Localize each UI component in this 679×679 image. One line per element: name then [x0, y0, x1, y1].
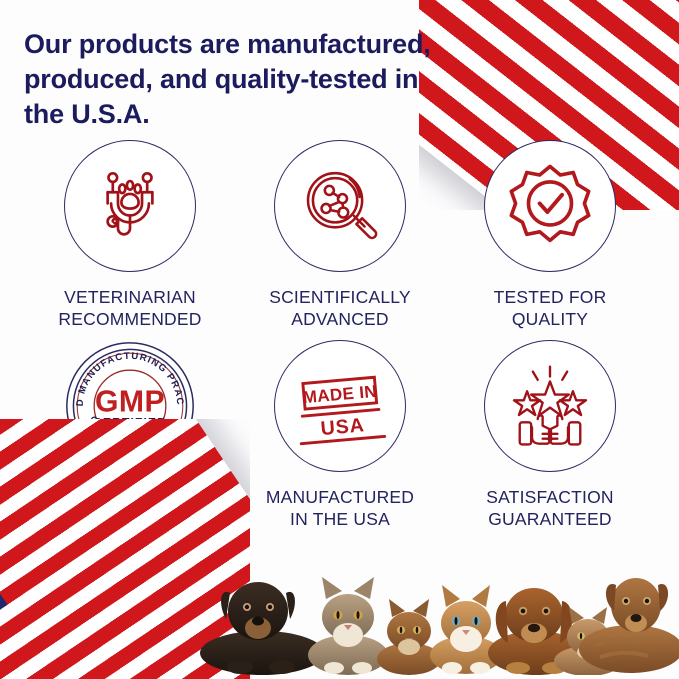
page-title: Our products are manufactured, produced,…: [24, 27, 464, 132]
badge-satisfaction-guaranteed: SATISFACTION GUARANTEED: [450, 340, 650, 530]
badge-circle: MADE IN USA: [274, 340, 406, 472]
made-in-usa-stamp-icon: MADE IN USA: [293, 363, 387, 449]
infographic-canvas: Our products are manufactured, produced,…: [0, 0, 679, 679]
thumbs-up-stars-icon: [505, 363, 595, 449]
badge-veterinarian-recommended: VETERINARIAN RECOMMENDED: [30, 140, 230, 330]
pet-dog-black-tan: [200, 582, 324, 675]
rosette-check-icon: [507, 163, 593, 249]
gmp-sub-text: CERTIFIED: [93, 416, 167, 430]
badge-circle: GOOD MANUFACTURING PRACTICE QUALITY PROD…: [64, 340, 196, 472]
magnifier-molecule-icon: [299, 165, 381, 247]
stethoscope-paw-icon: [87, 163, 173, 249]
pet-cat-tabby-1: [308, 577, 388, 675]
badge-circle: [64, 140, 196, 272]
badge-circle: [484, 140, 616, 272]
badge-row-1: VETERINARIAN RECOMMENDED: [30, 140, 650, 330]
badge-cgmp-compliant: GOOD MANUFACTURING PRACTICE QUALITY PROD…: [30, 340, 230, 530]
pets-photo: [196, 549, 679, 675]
badge-label: TESTED FOR QUALITY: [494, 286, 607, 330]
badge-label: MANUFACTURED IN THE USA: [266, 486, 414, 530]
badge-circle: [274, 140, 406, 272]
badge-manufactured-in-usa: MADE IN USA MANUFACTURED IN THE USA: [240, 340, 440, 530]
usa-text: USA: [320, 414, 366, 440]
pet-cat-tabby-2: [377, 599, 441, 675]
gmp-certified-seal-icon: GOOD MANUFACTURING PRACTICE QUALITY PROD…: [64, 340, 196, 472]
flag-stars: ★★★★★★★★★★★★★★★★★★★★★★★★★★★★★★★★★★★★★★★★…: [0, 424, 8, 679]
flag-canton: ★★★★★★★★★★★★★★★★★★★★★★★★★★★★★★★★★★★★★★★★…: [0, 424, 8, 679]
badge-label: CGMP COMPLIANT: [49, 486, 211, 508]
badge-label: VETERINARIAN RECOMMENDED: [58, 286, 201, 330]
badge-label: SATISFACTION GUARANTEED: [486, 486, 614, 530]
badge-grid: VETERINARIAN RECOMMENDED: [30, 140, 650, 540]
badge-scientifically-advanced: SCIENTIFICALLY ADVANCED: [240, 140, 440, 330]
badge-row-2: GOOD MANUFACTURING PRACTICE QUALITY PROD…: [30, 340, 650, 530]
badge-label: SCIENTIFICALLY ADVANCED: [269, 286, 411, 330]
gmp-center-text: GMP: [95, 386, 165, 419]
badge-circle: [484, 340, 616, 472]
badge-tested-for-quality: TESTED FOR QUALITY: [450, 140, 650, 330]
